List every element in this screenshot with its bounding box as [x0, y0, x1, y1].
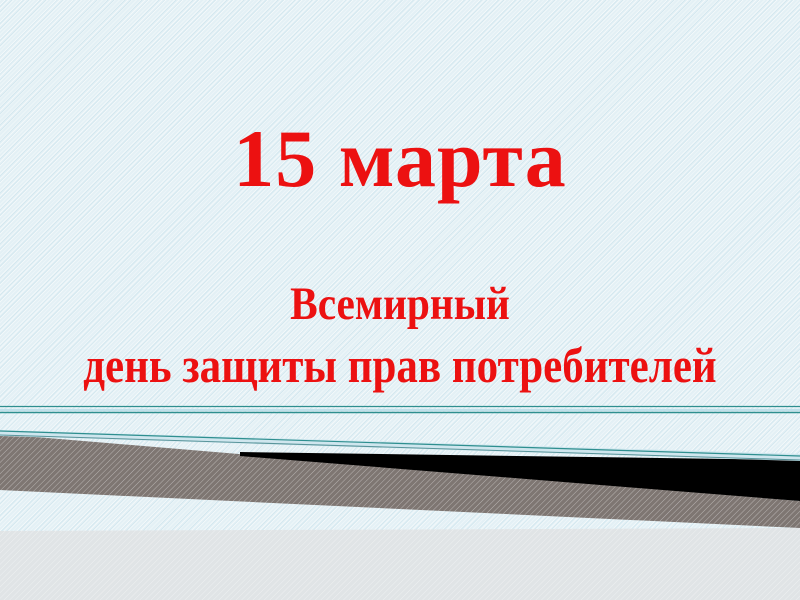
slide-subtitle-line-1: Всемирный [48, 276, 752, 333]
slide-title: 15 марта [0, 118, 800, 200]
slide-subtitle: Всемирный день защиты прав потребителей [0, 276, 800, 396]
slide-canvas: 15 марта Всемирный день защиты прав потр… [0, 0, 800, 600]
slide-text-layer: 15 марта Всемирный день защиты прав потр… [0, 0, 800, 600]
slide-subtitle-line-2: день защиты прав потребителей [56, 335, 744, 396]
